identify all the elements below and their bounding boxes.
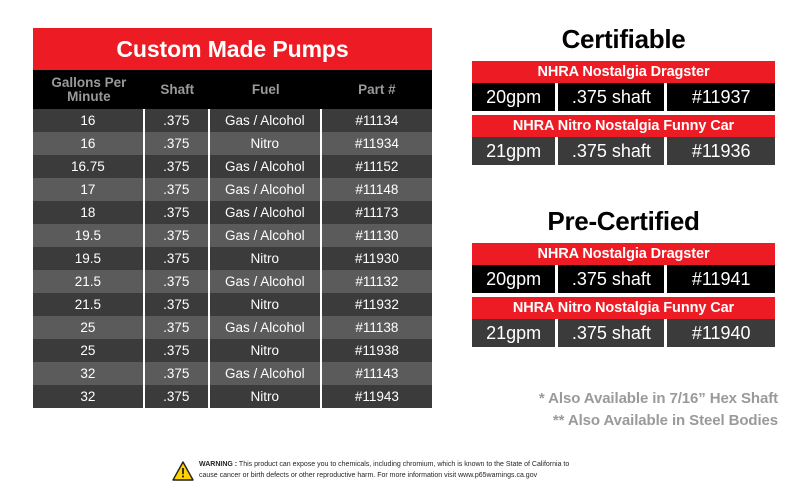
precert-cell-part: #11941	[667, 265, 775, 293]
prop65-warning: WARNING : This product can expose you to…	[172, 460, 642, 482]
precertified-group-funny-car: NHRA Nitro Nostalgia Funny Car 21gpm .37…	[472, 297, 775, 347]
pumps-table-banner: Custom Made Pumps	[33, 28, 432, 70]
cell-fuel: Gas / Alcohol	[210, 201, 322, 224]
prop65-warning-label: WARNING :	[199, 461, 237, 468]
cell-gpm: 18	[33, 201, 145, 224]
cell-part: #11173	[322, 201, 432, 224]
cell-gpm: 25	[33, 339, 145, 362]
cert-cell-gpm: 20gpm	[472, 83, 558, 111]
table-row: 21.5.375Gas / Alcohol#11132	[33, 270, 432, 293]
cell-part: #11932	[322, 293, 432, 316]
cell-part: #11943	[322, 385, 432, 408]
table-row: 16.375Nitro#11934	[33, 132, 432, 155]
cell-shaft: .375	[145, 247, 210, 270]
table-row: 16.75.375Gas / Alcohol#11152	[33, 155, 432, 178]
cell-fuel: Gas / Alcohol	[210, 316, 322, 339]
cell-gpm: 17	[33, 178, 145, 201]
availability-footnotes: * Also Available in 7/16” Hex Shaft ** A…	[470, 388, 778, 432]
cell-part: #11152	[322, 155, 432, 178]
precertified-banner-dragster: NHRA Nostalgia Dragster	[472, 243, 775, 265]
certifiable-row-dragster: 20gpm .375 shaft #11937	[472, 83, 775, 111]
cert-cell-part: #11937	[667, 83, 775, 111]
cell-shaft: .375	[145, 132, 210, 155]
certifiable-banner-dragster: NHRA Nostalgia Dragster	[472, 61, 775, 83]
table-row: 25.375Nitro#11938	[33, 339, 432, 362]
cell-fuel: Nitro	[210, 247, 322, 270]
cell-fuel: Gas / Alcohol	[210, 155, 322, 178]
cell-shaft: .375	[145, 339, 210, 362]
cell-shaft: .375	[145, 155, 210, 178]
cell-shaft: .375	[145, 178, 210, 201]
precert-cell-part: #11940	[667, 319, 775, 347]
cell-fuel: Gas / Alcohol	[210, 362, 322, 385]
cell-gpm: 16	[33, 132, 145, 155]
cell-gpm: 25	[33, 316, 145, 339]
table-row: 25.375Gas / Alcohol#11138	[33, 316, 432, 339]
precertified-section: Pre-Certified NHRA Nostalgia Dragster 20…	[472, 208, 775, 351]
cell-shaft: .375	[145, 224, 210, 247]
pumps-table-header-row: Gallons PerMinute Shaft Fuel Part #	[33, 70, 432, 109]
cell-part: #11138	[322, 316, 432, 339]
cell-shaft: .375	[145, 293, 210, 316]
prop65-warning-line2: cause cancer or birth defects or other r…	[199, 472, 537, 479]
cell-part: #11143	[322, 362, 432, 385]
cell-fuel: Gas / Alcohol	[210, 270, 322, 293]
certifiable-group-dragster: NHRA Nostalgia Dragster 20gpm .375 shaft…	[472, 61, 775, 111]
cell-shaft: .375	[145, 362, 210, 385]
pumps-table-body: 16.375Gas / Alcohol#1113416.375Nitro#119…	[33, 109, 432, 408]
table-row: 19.5.375Gas / Alcohol#11130	[33, 224, 432, 247]
table-row: 18.375Gas / Alcohol#11173	[33, 201, 432, 224]
precertified-row-funny-car: 21gpm .375 shaft #11940	[472, 319, 775, 347]
certifiable-group-funny-car: NHRA Nitro Nostalgia Funny Car 21gpm .37…	[472, 115, 775, 165]
cell-gpm: 16.75	[33, 155, 145, 178]
cell-part: #11132	[322, 270, 432, 293]
precert-cell-gpm: 21gpm	[472, 319, 558, 347]
cell-gpm: 21.5	[33, 270, 145, 293]
prop65-warning-text: WARNING : This product can expose you to…	[199, 460, 569, 482]
certifiable-section: Certifiable NHRA Nostalgia Dragster 20gp…	[472, 26, 775, 169]
column-header-shaft: Shaft	[145, 83, 210, 97]
precert-cell-gpm: 20gpm	[472, 265, 558, 293]
footnote-steel-bodies: ** Also Available in Steel Bodies	[470, 410, 778, 432]
cell-gpm: 32	[33, 385, 145, 408]
cell-fuel: Nitro	[210, 385, 322, 408]
cell-part: #11938	[322, 339, 432, 362]
cell-shaft: .375	[145, 201, 210, 224]
table-row: 32.375Nitro#11943	[33, 385, 432, 408]
cell-part: #11934	[322, 132, 432, 155]
precert-cell-shaft: .375 shaft	[558, 265, 667, 293]
custom-made-pumps-table: Custom Made Pumps Gallons PerMinute Shaf…	[33, 28, 432, 408]
cell-fuel: Gas / Alcohol	[210, 109, 322, 132]
cell-part: #11148	[322, 178, 432, 201]
cell-gpm: 19.5	[33, 247, 145, 270]
precertified-row-dragster: 20gpm .375 shaft #11941	[472, 265, 775, 293]
table-row: 32.375Gas / Alcohol#11143	[33, 362, 432, 385]
cell-shaft: .375	[145, 270, 210, 293]
certifiable-row-funny-car: 21gpm .375 shaft #11936	[472, 137, 775, 165]
cell-part: #11930	[322, 247, 432, 270]
pumps-table-title: Custom Made Pumps	[116, 36, 348, 63]
cell-shaft: .375	[145, 316, 210, 339]
cell-gpm: 16	[33, 109, 145, 132]
cell-gpm: 21.5	[33, 293, 145, 316]
cell-part: #11134	[322, 109, 432, 132]
prop65-warning-line1: This product can expose you to chemicals…	[237, 461, 569, 468]
cell-shaft: .375	[145, 109, 210, 132]
warning-triangle-icon	[172, 461, 194, 481]
cell-part: #11130	[322, 224, 432, 247]
cell-fuel: Nitro	[210, 293, 322, 316]
certifiable-heading: Certifiable	[472, 26, 775, 52]
table-row: 21.5.375Nitro#11932	[33, 293, 432, 316]
precertified-banner-funny-car: NHRA Nitro Nostalgia Funny Car	[472, 297, 775, 319]
cell-gpm: 19.5	[33, 224, 145, 247]
footnote-hex-shaft: * Also Available in 7/16” Hex Shaft	[470, 388, 778, 410]
cell-fuel: Gas / Alcohol	[210, 178, 322, 201]
cell-fuel: Nitro	[210, 132, 322, 155]
cert-cell-shaft: .375 shaft	[558, 83, 667, 111]
cell-fuel: Nitro	[210, 339, 322, 362]
column-header-fuel: Fuel	[210, 83, 322, 97]
table-row: 16.375Gas / Alcohol#11134	[33, 109, 432, 132]
cell-gpm: 32	[33, 362, 145, 385]
cert-cell-gpm: 21gpm	[472, 137, 558, 165]
certifiable-banner-funny-car: NHRA Nitro Nostalgia Funny Car	[472, 115, 775, 137]
cell-fuel: Gas / Alcohol	[210, 224, 322, 247]
cert-cell-part: #11936	[667, 137, 775, 165]
precertified-group-dragster: NHRA Nostalgia Dragster 20gpm .375 shaft…	[472, 243, 775, 293]
cert-cell-shaft: .375 shaft	[558, 137, 667, 165]
cell-shaft: .375	[145, 385, 210, 408]
column-header-gpm: Gallons PerMinute	[33, 76, 145, 104]
column-header-part: Part #	[322, 83, 432, 97]
table-row: 17.375Gas / Alcohol#11148	[33, 178, 432, 201]
precertified-heading: Pre-Certified	[472, 208, 775, 234]
table-row: 19.5.375Nitro#11930	[33, 247, 432, 270]
precert-cell-shaft: .375 shaft	[558, 319, 667, 347]
